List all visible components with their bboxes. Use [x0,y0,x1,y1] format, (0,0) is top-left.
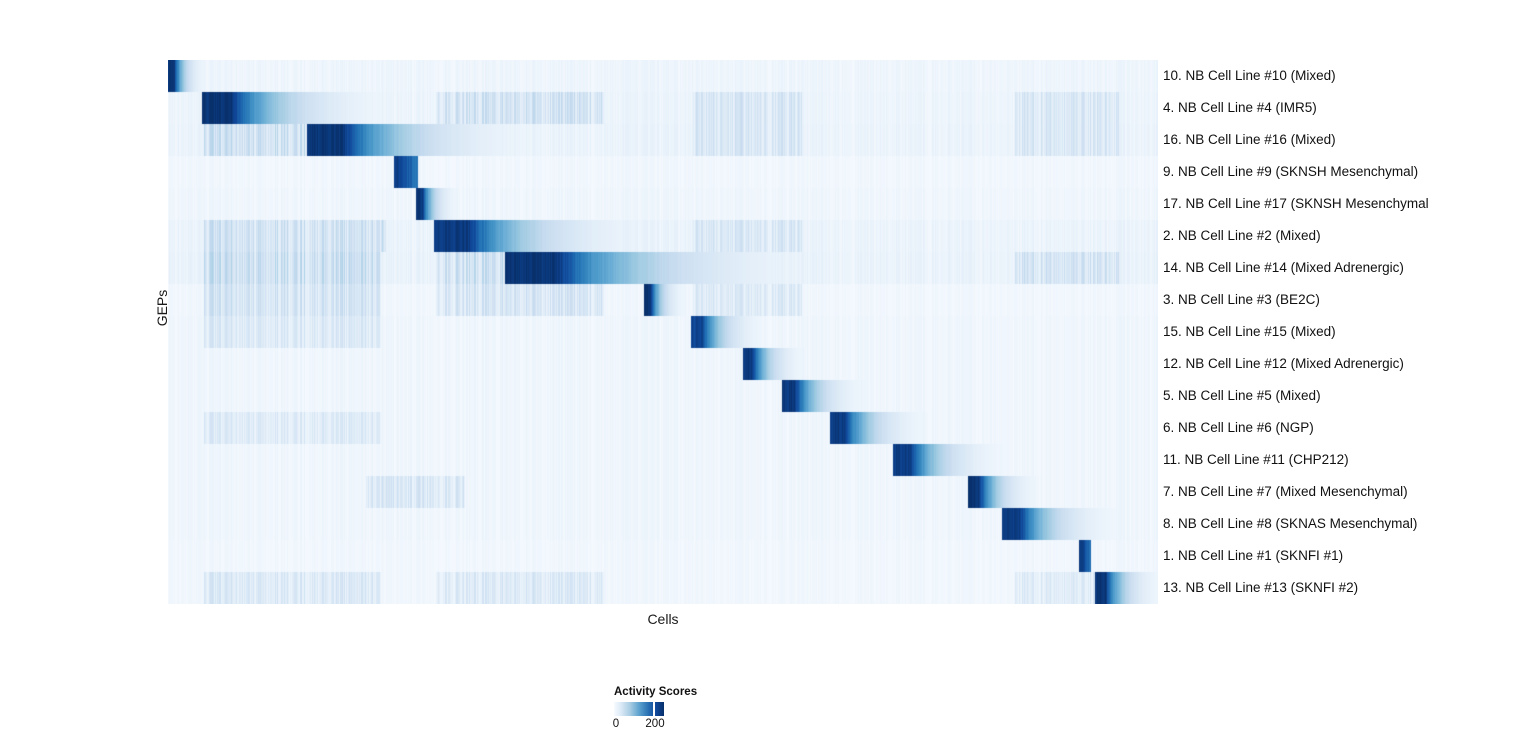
row-label-gep-1: 1. NB Cell Line #1 (SKNFI #1) [1163,549,1343,563]
legend-tick-mark-200 [653,702,655,716]
row-label-gep-10: 10. NB Cell Line #10 (Mixed) [1163,69,1336,83]
legend-gradient-bar [614,702,664,716]
heatmap-canvas [168,60,1158,604]
row-label-gep-4: 4. NB Cell Line #4 (IMR5) [1163,101,1317,115]
legend-tick-label-200: 200 [645,718,664,730]
legend-tick-label-0: 0 [613,718,619,730]
heatmap-row-labels: 10. NB Cell Line #10 (Mixed)4. NB Cell L… [1163,60,1533,604]
row-label-gep-7: 7. NB Cell Line #7 (Mixed Mesenchymal) [1163,485,1408,499]
row-label-gep-8: 8. NB Cell Line #8 (SKNAS Mesenchymal) [1163,517,1417,531]
row-label-gep-5: 5. NB Cell Line #5 (Mixed) [1163,389,1321,403]
row-label-gep-13: 13. NB Cell Line #13 (SKNFI #2) [1163,581,1358,595]
legend-title: Activity Scores [614,686,697,698]
row-label-gep-12: 12. NB Cell Line #12 (Mixed Adrenergic) [1163,357,1404,371]
heatmap-figure: GEPs Cells 10. NB Cell Line #10 (Mixed)4… [0,0,1540,743]
row-label-gep-11: 11. NB Cell Line #11 (CHP212) [1163,453,1349,467]
row-label-gep-6: 6. NB Cell Line #6 (NGP) [1163,421,1314,435]
colorbar-legend: Activity Scores 0200 [614,686,834,741]
row-label-gep-3: 3. NB Cell Line #3 (BE2C) [1163,293,1320,307]
heatmap-panel [168,60,1158,604]
row-label-gep-15: 15. NB Cell Line #15 (Mixed) [1163,325,1336,339]
row-label-gep-2: 2. NB Cell Line #2 (Mixed) [1163,229,1321,243]
row-label-gep-9: 9. NB Cell Line #9 (SKNSH Mesenchymal) [1163,165,1418,179]
row-label-gep-14: 14. NB Cell Line #14 (Mixed Adrenergic) [1163,261,1404,275]
row-label-gep-17: 17. NB Cell Line #17 (SKNSH Mesenchymal [1163,197,1429,211]
row-label-gep-16: 16. NB Cell Line #16 (Mixed) [1163,133,1336,147]
x-axis-label: Cells [168,611,1158,627]
